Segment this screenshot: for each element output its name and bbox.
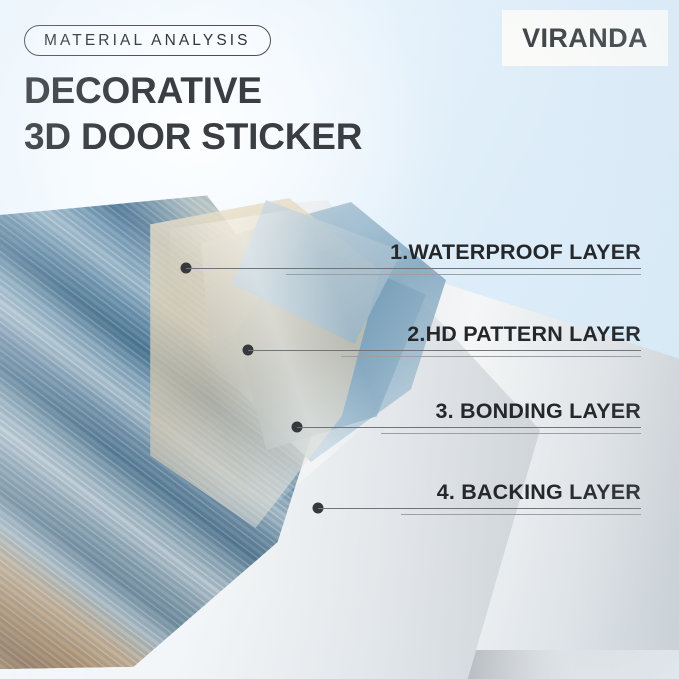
callout-line-2 (248, 350, 641, 351)
callout-rule-2 (341, 356, 641, 357)
eyebrow-badge: MATERIAL ANALYSIS (24, 25, 271, 56)
callout-rule-3 (381, 433, 641, 434)
callout-line-3 (297, 427, 641, 428)
callout-label-1: 1.WATERPROOF LAYER (390, 240, 641, 265)
title-line-1: DECORATIVE (24, 68, 484, 114)
callout-label-2: 2.HD PATTERN LAYER (407, 322, 641, 347)
title-line-2: 3D DOOR STICKER (24, 114, 484, 160)
callout-line-1 (186, 268, 641, 269)
brand-logo-label: VIRANDA (522, 23, 648, 54)
callout-rule-4 (401, 514, 641, 515)
callout-label-3: 3. BONDING LAYER (436, 399, 642, 424)
eyebrow-label: MATERIAL ANALYSIS (44, 32, 251, 50)
callout-rule-1 (286, 274, 641, 275)
page-title: DECORATIVE 3D DOOR STICKER (24, 68, 484, 160)
callout-line-4 (318, 508, 641, 509)
material-analysis-infographic: MATERIAL ANALYSIS DECORATIVE 3D DOOR STI… (0, 0, 679, 679)
callout-label-4: 4. BACKING LAYER (437, 480, 641, 505)
brand-logo: VIRANDA (502, 10, 668, 66)
